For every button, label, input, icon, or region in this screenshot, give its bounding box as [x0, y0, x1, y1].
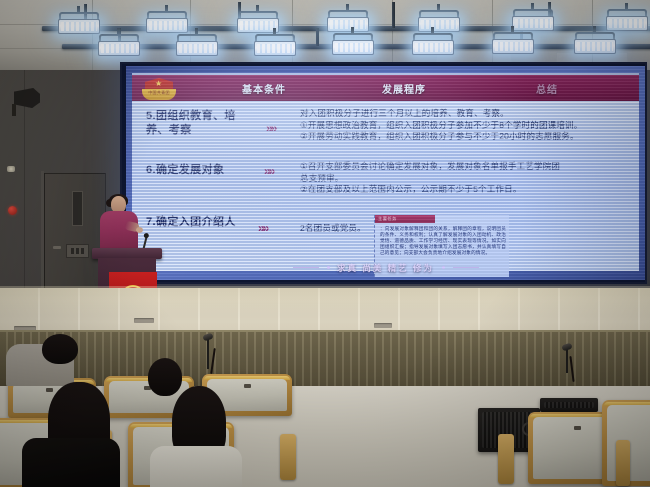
row-arrow-icon: »»: [264, 164, 273, 178]
callout-text: ：向发展对象解释团和团的关系，解释团的章程，说明团员的条件、义务和权利；认真了解…: [380, 226, 506, 256]
presenter: [98, 196, 138, 254]
door-window: [72, 191, 83, 226]
desc-line: ②在团支部及以上范围内公示，公示期不少于5个工作日。: [300, 184, 638, 196]
stage-light: [146, 11, 188, 33]
desc-line: 对入团积极分子进行三个月以上的培养、教育、考察。: [300, 108, 638, 120]
audience-person-torso: [22, 438, 120, 487]
stage-light: [574, 32, 616, 54]
stage-light: [332, 33, 374, 55]
desc-line: ①开展思想政治教育，组织入团积极分子参加不少于8个学时的团课培训。: [300, 120, 638, 132]
callout-header-label: 主要任务: [378, 216, 397, 222]
slide-row-desc: 2名团员或党员。: [300, 223, 382, 235]
slide-column-header-3: 总结: [536, 81, 558, 96]
floor-outlet: [134, 318, 154, 323]
wall-outlet-panel[interactable]: [66, 244, 89, 258]
seat-armrest: [280, 434, 296, 480]
slide-row-label: 6.确定发展对象: [146, 163, 264, 177]
aisle-wall: [0, 332, 650, 388]
floor-mic-stand: [207, 339, 209, 369]
slide-row-label: 5.团组织教育、培养、考察: [146, 109, 256, 137]
desc-line: ①召开支部委员会讨论确定发展对象，发展对象名单报手工艺学院团: [300, 161, 638, 173]
emblem-caption: 中国共青团: [145, 90, 173, 96]
slide-row-label: 7.确定入团介绍人: [146, 215, 250, 229]
slide-footer-motto: 求真 尚美 精艺 修为: [132, 258, 639, 276]
presenter-hand: [136, 227, 143, 233]
row-arrow-icon: »»: [258, 221, 267, 235]
stage-light: [176, 34, 218, 56]
slide-column-header-1: 基本条件: [242, 81, 286, 96]
stage-light: [606, 9, 648, 31]
floor-mic-stand: [566, 349, 568, 373]
slide-header-bar: ★ 中国共青团 基本条件 发展程序 总结: [132, 73, 639, 103]
motto-text: 求真 尚美 精艺 修为: [337, 263, 434, 273]
auditorium-photo: ★ 中国共青团 基本条件 发展程序 总结 5.团组织教育、培养、考察 »» 对入…: [0, 0, 650, 487]
stage-light-pool: [0, 286, 650, 316]
fire-alarm-button[interactable]: [8, 206, 17, 215]
desc-line: ②开展劳动实践教育，组织入团积极分子参与不少于20小时的志愿服务。: [300, 131, 638, 143]
stage-light: [254, 34, 296, 56]
seat-armrest: [498, 434, 514, 484]
slide-column-header-2: 发展程序: [382, 81, 426, 96]
slide-row: 5.团组织教育、培养、考察 »» 对入团积极分子进行三个月以上的培养、教育、考察…: [132, 107, 639, 149]
stage-light: [327, 10, 369, 32]
callout-header-bar: 主要任务: [375, 215, 435, 223]
stage-light: [418, 10, 460, 32]
stage-light: [58, 12, 100, 34]
slide-row-desc: ①召开支部委员会讨论确定发展对象，发展对象名单报手工艺学院团 总支预审。 ②在团…: [300, 161, 638, 196]
stage-light: [412, 33, 454, 55]
presenter-torso: [100, 211, 138, 253]
projected-slide: ★ 中国共青团 基本条件 发展程序 总结 5.团组织教育、培养、考察 »» 对入…: [126, 66, 645, 280]
door-handle[interactable]: [53, 246, 61, 249]
floor-monitor-speaker: [540, 398, 598, 412]
slide-row: 6.确定发展对象 »» ①召开支部委员会讨论确定发展对象，发展对象名单报手工艺学…: [132, 159, 639, 199]
stage-light: [512, 9, 554, 31]
speaker-bracket: [12, 104, 16, 116]
audience-person-head: [42, 334, 78, 364]
slide-row-desc: 对入团积极分子进行三个月以上的培养、教育、考察。 ①开展思想政治教育，组织入团积…: [300, 108, 638, 143]
wall-indicator-lamp: [7, 166, 15, 172]
audience-person-head: [148, 358, 182, 396]
audience-person-torso: [150, 446, 242, 487]
floor-outlet: [374, 323, 392, 328]
desc-line: 2名团员或党员。: [300, 223, 382, 235]
stage-light: [492, 32, 534, 54]
row-arrow-icon: »»: [266, 121, 275, 135]
seat-armrest: [616, 440, 630, 486]
communist-youth-league-emblem-icon: ★ 中国共青团: [142, 77, 176, 101]
stage-light: [98, 34, 140, 56]
desc-line: 总支预审。: [300, 173, 638, 185]
wall-mounted-speaker: [14, 88, 40, 108]
